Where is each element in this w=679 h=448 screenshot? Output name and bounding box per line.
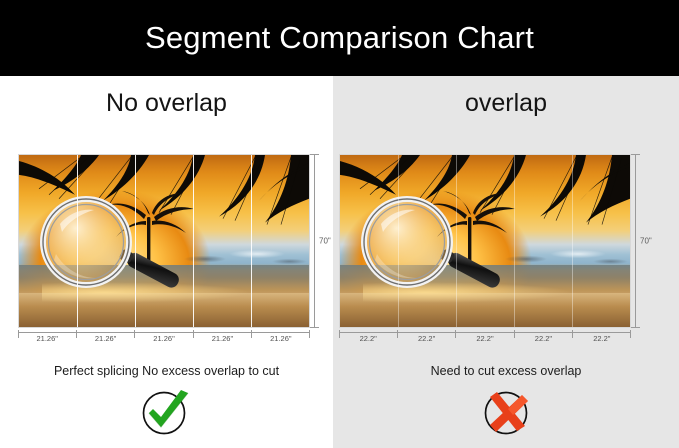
page-title: Segment Comparison Chart	[145, 20, 534, 56]
photo-wrapper-no-overlap	[18, 154, 310, 328]
comparison-panels: No overlap	[0, 76, 679, 448]
segment-width-label: 21.26"	[76, 334, 134, 343]
dimension-tick-top	[631, 154, 640, 155]
segment-seam-lines	[19, 155, 309, 327]
segment-width-label: 22.2"	[573, 334, 631, 343]
verdict-no-overlap	[0, 388, 333, 438]
segment-seam-lines	[340, 155, 630, 327]
seam-line	[251, 155, 252, 327]
photo-wrapper-overlap	[339, 154, 631, 328]
beach-photo-overlap	[339, 154, 631, 328]
panel-overlap: overlap	[333, 76, 679, 448]
segment-width-label: 22.2"	[339, 334, 397, 343]
panel-heading-overlap: overlap	[333, 89, 679, 118]
dimension-tick-top	[310, 154, 319, 155]
seam-line	[193, 155, 194, 327]
height-label-no-overlap: 70"	[319, 237, 331, 246]
panel-no-overlap: No overlap	[0, 76, 333, 448]
width-dimensions-no-overlap: 21.26" 21.26" 21.26" 21.26" 21.26"	[18, 330, 310, 348]
segment-width-labels-no-overlap: 21.26" 21.26" 21.26" 21.26" 21.26"	[18, 334, 310, 343]
seam-line	[398, 155, 399, 327]
segment-width-label: 21.26"	[135, 334, 193, 343]
caption-overlap: Need to cut excess overlap	[333, 364, 679, 378]
seam-line	[514, 155, 515, 327]
seam-line	[77, 155, 78, 327]
seam-line	[135, 155, 136, 327]
cross-icon	[477, 388, 535, 438]
dimension-line	[314, 154, 315, 328]
segment-width-label: 22.2"	[514, 334, 572, 343]
check-icon	[138, 388, 196, 438]
header-bar: Segment Comparison Chart	[0, 0, 679, 76]
segment-width-label: 21.26"	[18, 334, 76, 343]
seam-line	[572, 155, 573, 327]
width-dimensions-overlap: 22.2" 22.2" 22.2" 22.2" 22.2"	[339, 330, 631, 348]
height-label-overlap: 70"	[640, 237, 652, 246]
segment-width-label: 22.2"	[456, 334, 514, 343]
dimension-tick-bottom	[310, 327, 319, 328]
panel-heading-no-overlap: No overlap	[0, 89, 333, 118]
dimension-line	[635, 154, 636, 328]
seam-line	[456, 155, 457, 327]
height-dimension-overlap: 70"	[631, 154, 657, 328]
beach-photo-no-overlap	[18, 154, 310, 328]
dimension-tick-bottom	[631, 327, 640, 328]
segment-width-label: 21.26"	[252, 334, 310, 343]
caption-no-overlap: Perfect splicing No excess overlap to cu…	[0, 364, 333, 378]
segment-comparison-chart-page: Segment Comparison Chart No overlap	[0, 0, 679, 448]
segment-width-labels-overlap: 22.2" 22.2" 22.2" 22.2" 22.2"	[339, 334, 631, 343]
segment-width-label: 22.2"	[397, 334, 455, 343]
segment-width-label: 21.26"	[193, 334, 251, 343]
verdict-overlap	[333, 388, 679, 438]
